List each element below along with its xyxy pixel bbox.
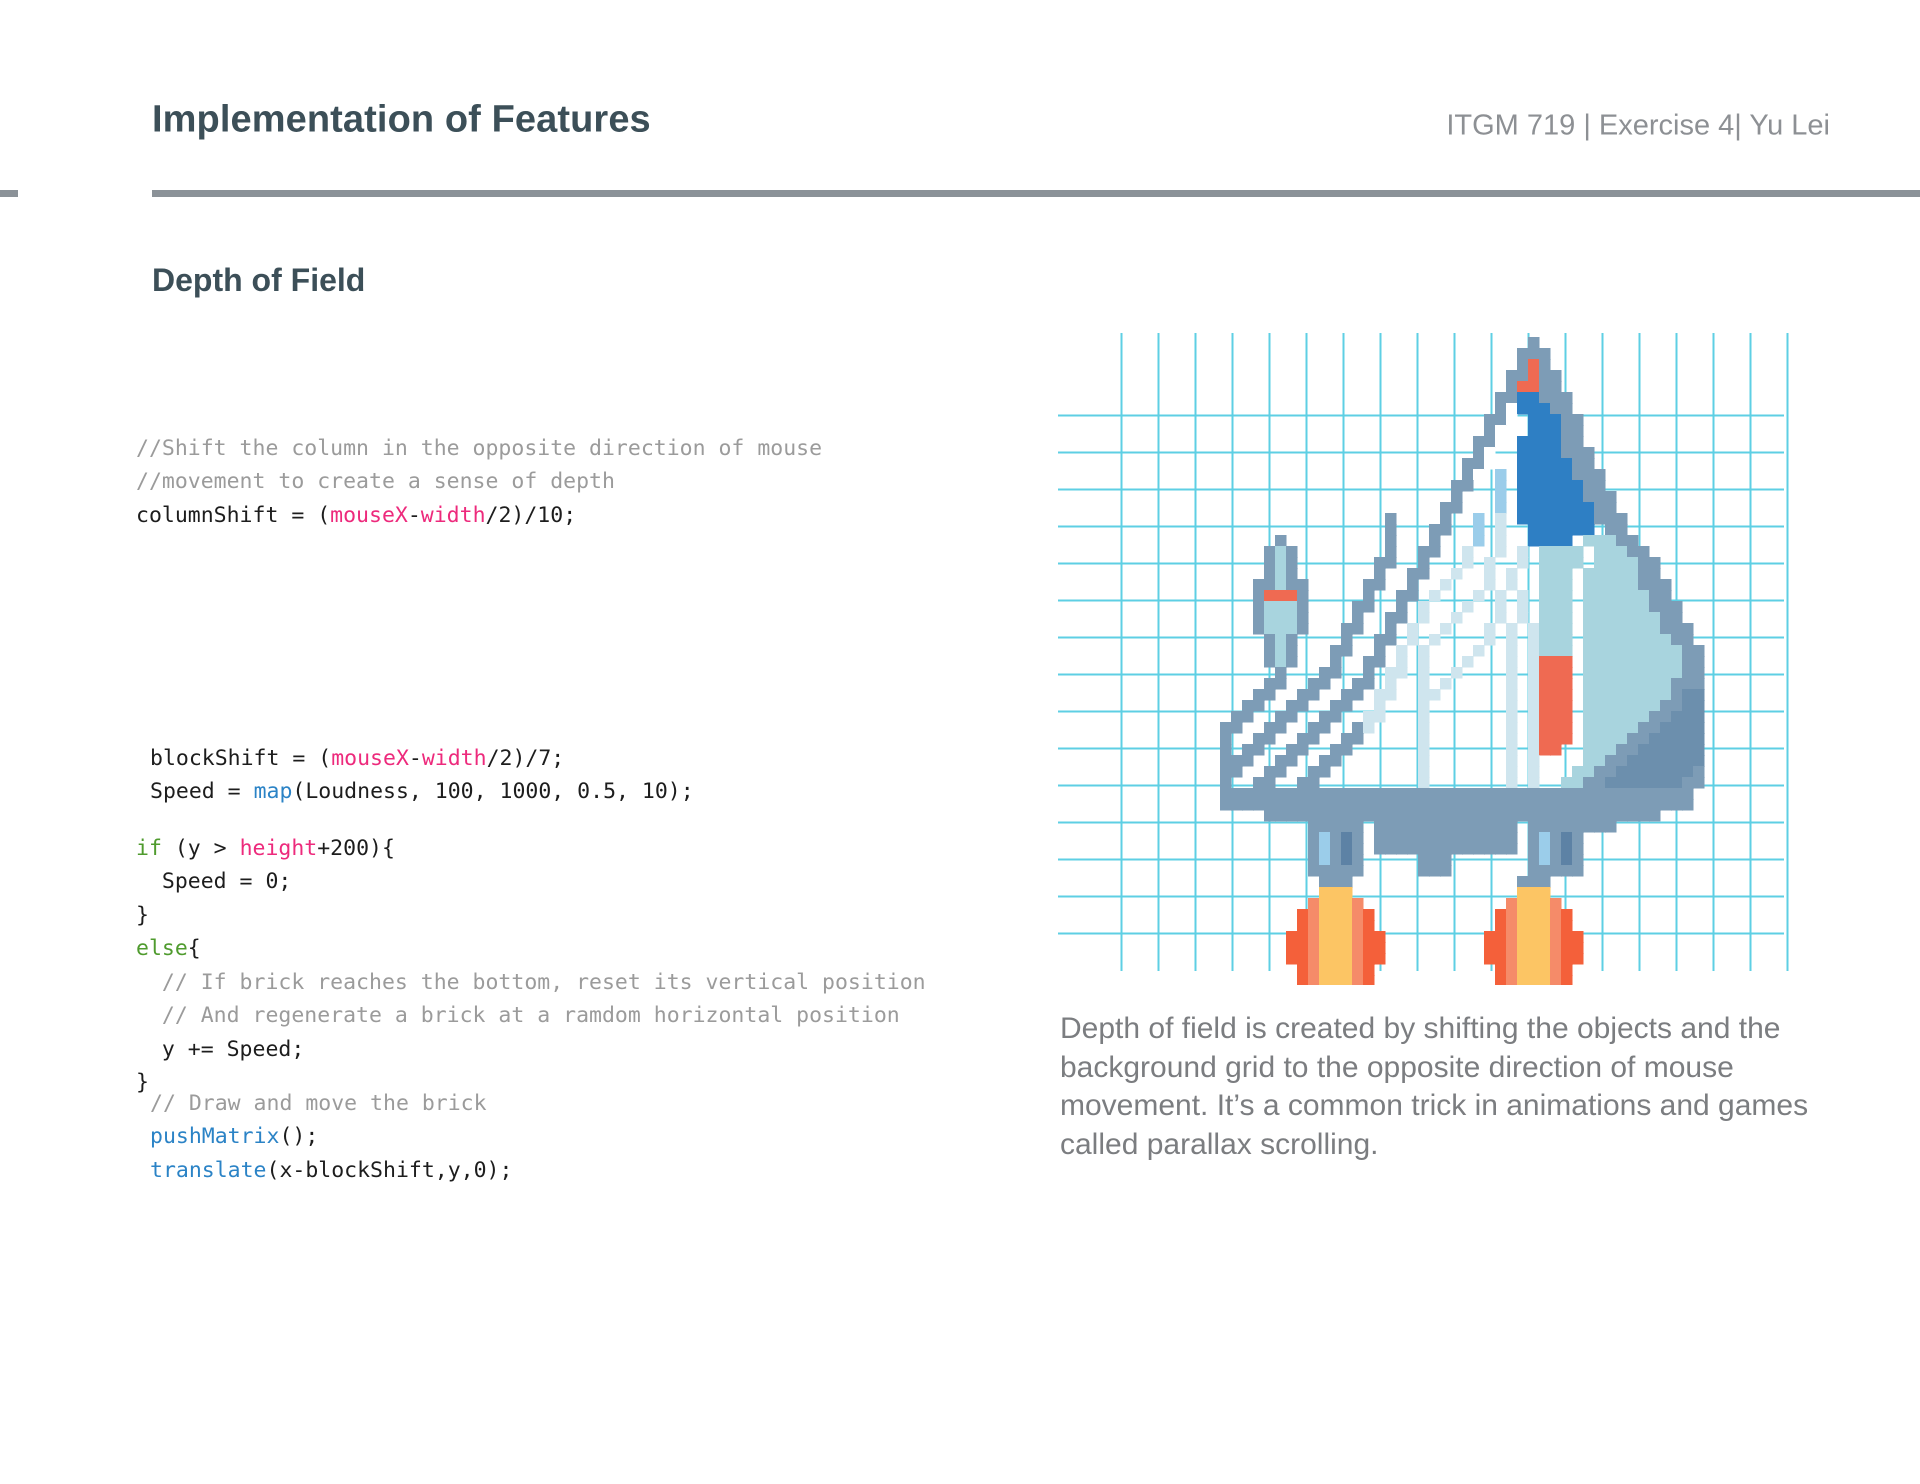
code-token-comment: //Shift the column in the opposite direc… bbox=[136, 436, 822, 461]
code-token-plain: (Loudness, 100, 1000, 0.5, 10); bbox=[292, 779, 693, 804]
code-block-if-else: if (y > height+200){ Speed = 0; } else{ … bbox=[136, 832, 926, 1100]
pixel-rocket-sprite bbox=[1050, 325, 1810, 985]
code-token-plain: - bbox=[409, 746, 422, 771]
code-token-plain: Speed = 0; bbox=[136, 869, 291, 894]
caption-text: Depth of field is created by shifting th… bbox=[1060, 1010, 1820, 1164]
code-token-plain: /2)/7; bbox=[487, 746, 565, 771]
code-token-plain: y += Speed; bbox=[136, 1037, 304, 1062]
code-token-var: mouseX bbox=[331, 746, 409, 771]
code-token-plain: { bbox=[188, 936, 201, 961]
header-meta-text: ITGM 719 | Exercise 4| Yu Lei bbox=[1446, 110, 1830, 143]
code-token-plain: (x-blockShift,y,0); bbox=[267, 1158, 513, 1183]
code-token-comment: // Draw and move the brick bbox=[150, 1091, 487, 1116]
page-title: Implementation of Features bbox=[152, 99, 651, 142]
code-token-plain: (y > bbox=[162, 836, 240, 861]
code-token-plain: - bbox=[408, 503, 421, 528]
slide-header: Implementation of Features ITGM 719 | Ex… bbox=[0, 0, 1920, 200]
code-token-var: mouseX bbox=[330, 503, 408, 528]
code-block-column-shift: //Shift the column in the opposite direc… bbox=[136, 432, 822, 533]
code-token-fn: translate bbox=[150, 1158, 267, 1183]
code-token-var: width bbox=[421, 503, 486, 528]
rocket-illustration bbox=[1050, 325, 1810, 985]
code-block-draw-brick: // Draw and move the brick pushMatrix();… bbox=[150, 1087, 512, 1188]
code-token-fn: map bbox=[254, 779, 293, 804]
header-divider bbox=[152, 190, 1920, 197]
code-token-fn: pushMatrix bbox=[150, 1124, 279, 1149]
code-token-plain: } bbox=[136, 1070, 149, 1095]
code-token-var: height bbox=[240, 836, 318, 861]
code-token-kw: if bbox=[136, 836, 162, 861]
code-token-comment: //movement to create a sense of depth bbox=[136, 469, 615, 494]
code-token-var: width bbox=[422, 746, 487, 771]
code-block-block-shift: blockShift = (mouseX-width/2)/7; Speed =… bbox=[150, 742, 694, 809]
code-token-plain: +200){ bbox=[317, 836, 395, 861]
code-token-kw: else bbox=[136, 936, 188, 961]
code-token-plain: } bbox=[136, 903, 149, 928]
section-heading: Depth of Field bbox=[152, 262, 365, 299]
code-token-comment: // If brick reaches the bottom, reset it… bbox=[136, 970, 926, 995]
header-rule-stub bbox=[0, 190, 18, 197]
code-token-plain: columnShift = ( bbox=[136, 503, 330, 528]
code-token-plain: /2)/10; bbox=[486, 503, 577, 528]
code-token-plain: Speed = bbox=[150, 779, 254, 804]
code-token-plain: blockShift = ( bbox=[150, 746, 331, 771]
code-token-comment: // And regenerate a brick at a ramdom ho… bbox=[136, 1003, 900, 1028]
code-token-plain: (); bbox=[279, 1124, 318, 1149]
